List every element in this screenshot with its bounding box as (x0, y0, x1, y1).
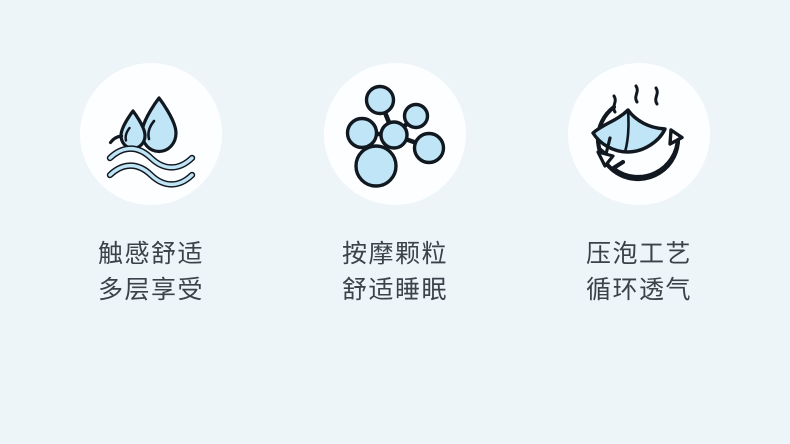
feature-caption-3: 压泡工艺 循环透气 (586, 236, 692, 308)
feature-highlights-strip: 触感舒适 多层享受 (0, 0, 790, 444)
feature-caption-3-line1: 压泡工艺 (586, 236, 692, 272)
molecule-particles-icon (339, 78, 451, 190)
breathable-airflow-cycle-icon (581, 76, 697, 192)
feature-caption-1-line2: 多层享受 (98, 272, 204, 308)
water-drops-waves-icon (95, 78, 207, 190)
feature-caption-3-line2: 循环透气 (586, 272, 692, 308)
feature-caption-2: 按摩颗粒 舒适睡眠 (342, 236, 448, 308)
feature-caption-2-line2: 舒适睡眠 (342, 272, 448, 308)
feature-item-2: 按摩颗粒 舒适睡眠 (273, 63, 517, 308)
feature-icon-badge-2 (324, 63, 466, 205)
feature-caption-1: 触感舒适 多层享受 (98, 236, 204, 308)
feature-icon-badge-1 (80, 63, 222, 205)
feature-caption-1-line1: 触感舒适 (98, 236, 204, 272)
feature-caption-2-line1: 按摩颗粒 (342, 236, 448, 272)
feature-item-3: 压泡工艺 循环透气 (517, 63, 761, 308)
feature-item-1: 触感舒适 多层享受 (29, 63, 273, 308)
feature-icon-badge-3 (568, 63, 710, 205)
